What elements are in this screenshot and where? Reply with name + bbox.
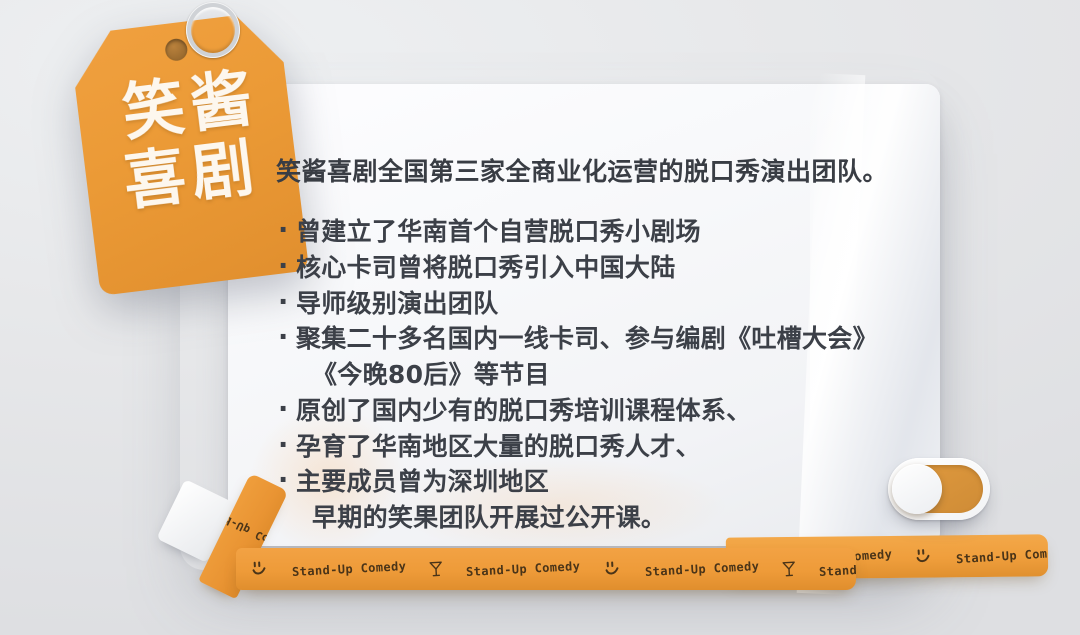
bullet-item: 原创了国内少有的脱口秀培训课程体系、 [276, 393, 936, 429]
bullet-item: 孕育了华南地区大量的脱口秀人才、 [276, 429, 936, 465]
hang-tag-hole-icon [164, 38, 189, 63]
highlighted-text: 首个自营脱口秀小剧场 [448, 214, 701, 250]
plain-text: 孕育了华南地区大量的脱口秀人才、 [296, 432, 701, 461]
plain-text: 聚集二十多名国内 [296, 324, 498, 353]
hang-tag-body: 笑酱 喜剧 [69, 10, 309, 296]
toggle-knob[interactable] [892, 464, 942, 514]
plain-text: 曾建立了华南 [296, 217, 448, 246]
hang-tag: 笑酱 喜剧 [69, 10, 309, 296]
bullet-item: 核心卡司曾将脱口秀引入中国大陆 [276, 250, 936, 286]
bullet-item: 聚集二十多名国内一线卡司、参与编剧《吐槽大会》 [276, 321, 936, 357]
toggle-switch[interactable] [888, 458, 990, 520]
plain-text: 《今晚80后》等节目 [312, 360, 550, 389]
plain-text: 主要成员曾为深圳地区 [296, 467, 549, 496]
ribbon-label: Stand-Up Comedy [466, 559, 581, 579]
plain-text: 原创了国内少有的 [296, 396, 498, 425]
bullet-item: 曾建立了华南首个自营脱口秀小剧场 [276, 214, 936, 250]
highlighted-text: 脱口秀培训 [498, 393, 625, 429]
bullet-item: 早期的笑果团队开展过公开课。 [276, 500, 936, 536]
poster-canvas: 笑酱 喜剧 笑酱喜剧全国第三家全商业化运营的脱口秀演出团队。 曾建立了华南首个自… [0, 0, 1080, 635]
highlighted-text: 第三家 [429, 152, 506, 188]
bullet-list: 曾建立了华南首个自营脱口秀小剧场核心卡司曾将脱口秀引入中国大陆导师级别演出团队聚… [276, 214, 936, 536]
bullet-item: 《今晚80后》等节目 [276, 357, 936, 393]
highlighted-text: 导师级别 [296, 286, 397, 322]
highlighted-text: 引入中国大陆 [524, 250, 676, 286]
plain-text: 课程体系、 [625, 396, 752, 425]
highlighted-text: 一线卡司 [498, 321, 599, 357]
plain-text: 全商业化运营的脱口秀演出团队。 [506, 157, 889, 186]
cocktail-glass-icon [781, 560, 798, 579]
plain-text: 演出团队 [397, 289, 498, 318]
bullet-item: 导师级别演出团队 [276, 286, 936, 322]
ribbon-label: Stand-Up Comedy [819, 559, 856, 579]
ribbon-label: Stand-Up Comedy [956, 545, 1048, 566]
ribbon-main-items: Stand-Up ComedyStand-Up ComedyStand-Up C… [236, 548, 856, 590]
plain-text: 笑酱喜剧全国 [276, 157, 429, 186]
smiley-icon [602, 559, 623, 578]
ribbon-label: Stand-Up Comedy [292, 559, 407, 579]
plain-text: 课。 [616, 503, 667, 532]
card-content: 笑酱喜剧全国第三家全商业化运营的脱口秀演出团队。 曾建立了华南首个自营脱口秀小剧… [276, 152, 936, 536]
smiley-icon [250, 559, 271, 578]
plain-text: 、参与编剧《吐槽大会》 [600, 324, 878, 353]
hang-tag-text: 笑酱 喜剧 [75, 62, 300, 219]
toggle-track[interactable] [895, 465, 983, 513]
bullet-item: 主要成员曾为深圳地区 [276, 464, 936, 500]
smiley-icon [914, 547, 935, 566]
plain-text: 核心卡司曾将脱口秀 [296, 253, 524, 282]
headline: 笑酱喜剧全国第三家全商业化运营的脱口秀演出团队。 [276, 152, 936, 188]
ribbon-segment-main: Stand-Up ComedyStand-Up ComedyStand-Up C… [236, 548, 856, 590]
plain-text: 早期的笑果团队开展过 [312, 503, 565, 532]
cocktail-glass-icon [428, 560, 445, 579]
metal-ring-icon [186, 2, 240, 58]
highlighted-text: 公开 [565, 500, 616, 536]
ribbon-label: Stand-Up Comedy [644, 559, 759, 579]
